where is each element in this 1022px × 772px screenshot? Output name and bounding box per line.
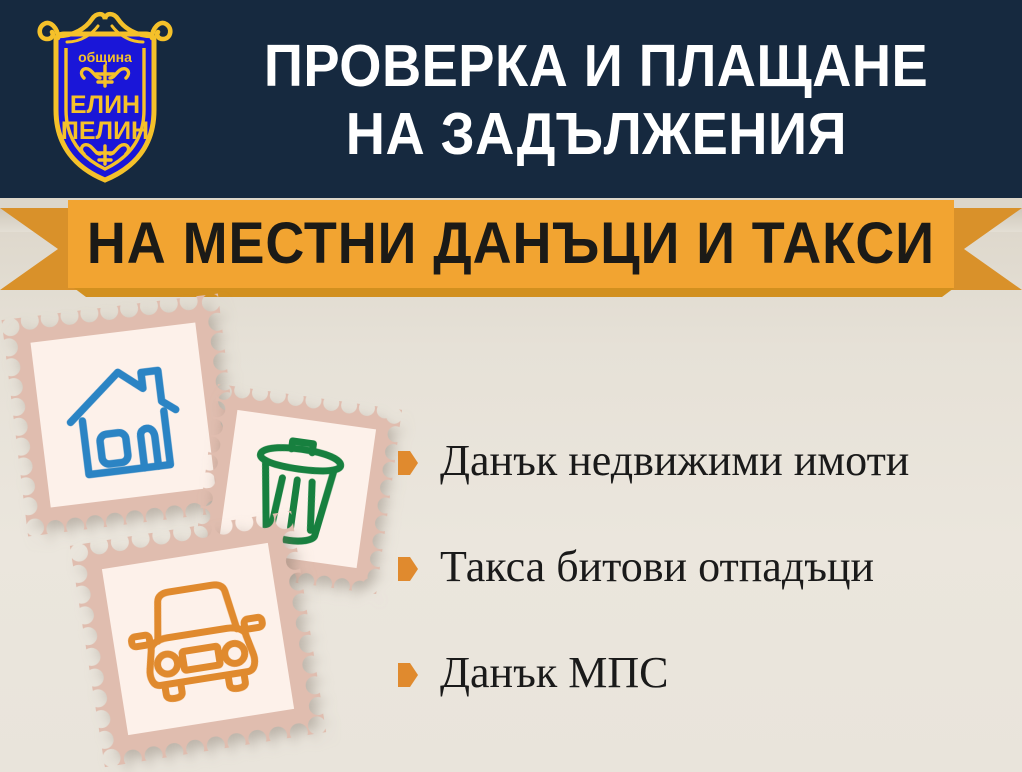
bullet-arrow-icon — [398, 557, 418, 581]
list-item-label: Такса битови отпадъци — [440, 543, 874, 591]
crest-svg: община ЕЛИН ПЕЛИН — [34, 6, 176, 188]
header-bar: община ЕЛИН ПЕЛИН ПРОВЕРКА И ПЛАЩАНЕ НА … — [0, 0, 1022, 198]
municipal-crest-logo: община ЕЛИН ПЕЛИН — [34, 6, 176, 188]
bullet-arrow-icon — [398, 451, 418, 475]
stamp-card-car — [70, 511, 326, 767]
list-item[interactable]: Данък недвижими имоти — [398, 432, 909, 490]
stamp-car-svg — [70, 511, 326, 767]
crest-name-line1: ЕЛИН — [70, 91, 140, 119]
list-item-label: Данък МПС — [440, 649, 668, 697]
bullet-arrow-icon — [398, 663, 418, 687]
list-item[interactable]: Такса битови отпадъци — [398, 538, 874, 596]
poster-root: община ЕЛИН ПЕЛИН ПРОВЕРКА И ПЛАЩАНЕ НА … — [0, 0, 1022, 772]
list-item[interactable]: Данък МПС — [398, 644, 668, 702]
crest-name-line2: ПЕЛИН — [61, 117, 149, 145]
ribbon-band: НА МЕСТНИ ДАНЪЦИ И ТАКСИ — [68, 200, 954, 288]
ribbon-text: НА МЕСТНИ ДАНЪЦИ И ТАКСИ — [87, 214, 935, 274]
tax-type-list: Данък недвижими имоти Такса битови отпад… — [398, 428, 1010, 718]
title-line-1: ПРОВЕРКА И ПЛАЩАНЕ — [264, 32, 928, 100]
subtitle-ribbon: НА МЕСТНИ ДАНЪЦИ И ТАКСИ — [0, 198, 1022, 303]
crest-municipality-label: община — [78, 49, 132, 65]
title-line-2: НА ЗАДЪЛЖЕНИЯ — [345, 100, 846, 168]
poster-title: ПРОВЕРКА И ПЛАЩАНЕ НА ЗАДЪЛЖЕНИЯ — [186, 14, 1006, 186]
list-item-label: Данък недвижими имоти — [440, 437, 909, 485]
